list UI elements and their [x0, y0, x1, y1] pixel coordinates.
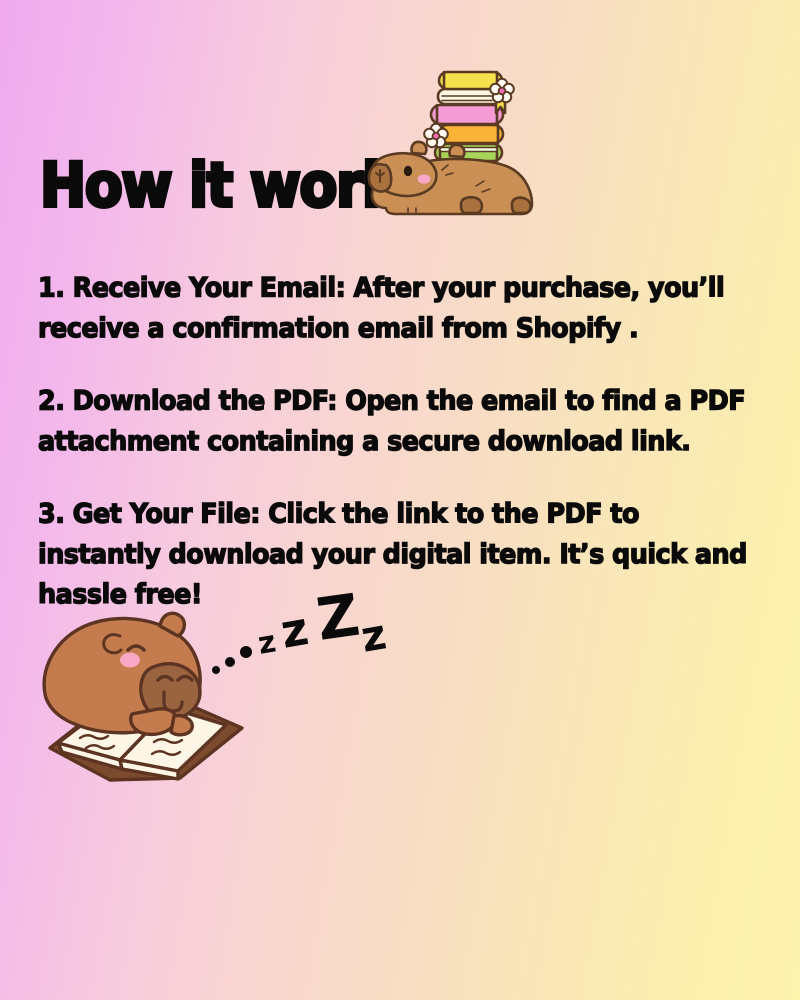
- ear-left: [411, 142, 426, 154]
- foot-front: [461, 197, 482, 213]
- capybara-with-books-illustration: [356, 58, 556, 242]
- zzz-letter-3: Z: [312, 592, 363, 654]
- zzz-letter-2: z: [277, 601, 313, 659]
- zzz-letter-4: z: [357, 609, 390, 662]
- foot-back: [512, 198, 531, 213]
- zzz-dot-2: [225, 657, 235, 667]
- step-2: 2. Download the PDF: Open the email to f…: [38, 381, 762, 462]
- steps-list: 1. Receive Your Email: After your purcha…: [38, 268, 762, 608]
- step-1: 1. Receive Your Email: After your purcha…: [38, 268, 762, 349]
- zzz-letter-1: z: [255, 624, 278, 662]
- book-third: [431, 105, 503, 124]
- paw: [131, 709, 176, 735]
- capybara-body: [369, 142, 532, 214]
- foot: [171, 716, 192, 735]
- sleep-zzz: z z Z z: [208, 592, 418, 684]
- sleeping-capybara-body: [44, 613, 200, 735]
- zzz-dot-1: [212, 666, 220, 674]
- blush: [120, 653, 140, 668]
- eye: [404, 166, 412, 176]
- ear-right: [449, 145, 464, 157]
- zzz-dot-3: [240, 646, 252, 658]
- blush: [418, 174, 431, 183]
